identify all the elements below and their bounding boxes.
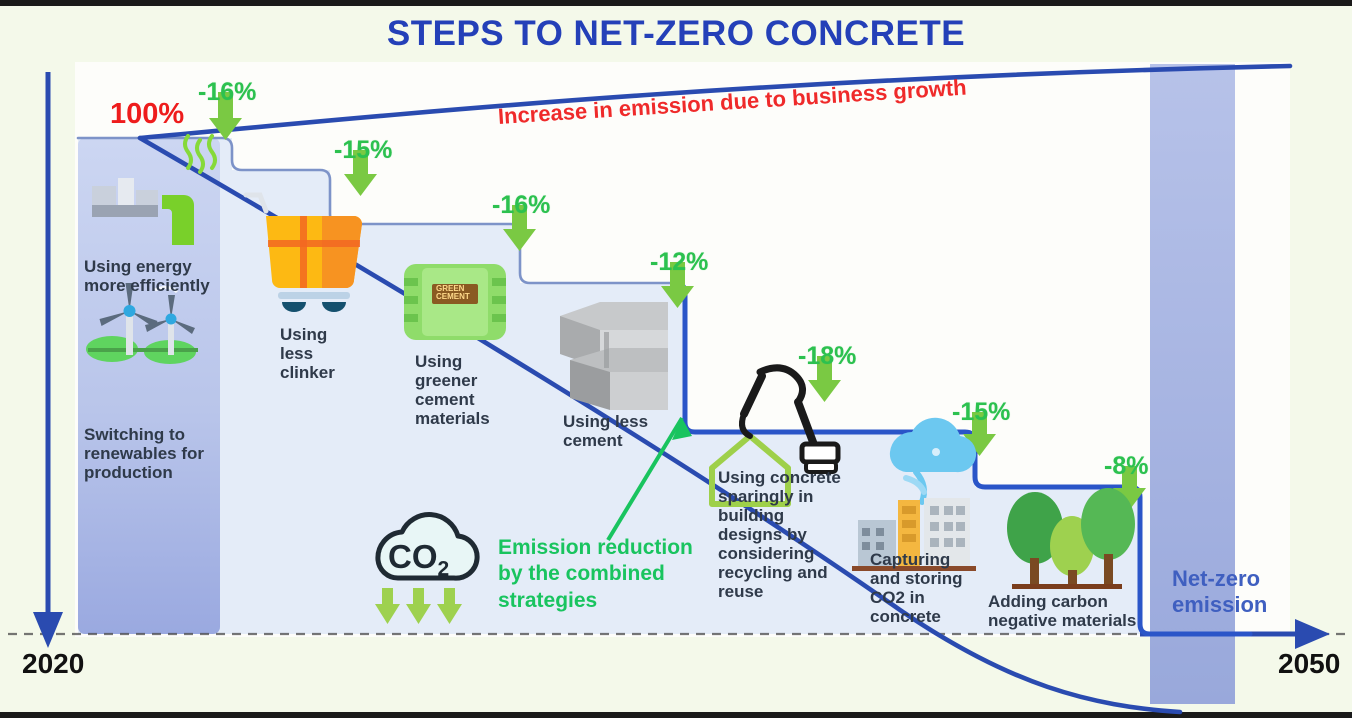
netzero-line2: emission (1172, 592, 1282, 618)
step-label-capture-line2: and storing (870, 569, 1000, 588)
pct-label-2: -15% (334, 136, 392, 165)
step-label-greener-line2: greener (415, 371, 545, 390)
step-label-clinker-line1: Using (280, 325, 390, 344)
y-axis-arrowhead (33, 612, 63, 648)
cement-bag-icon (404, 264, 506, 340)
infographic-canvas: STEPS TO NET-ZERO CONCRETE (0, 0, 1352, 718)
step-label-clinker: Using less clinker (280, 325, 390, 382)
step-label-greener-cement: Using greener cement materials (415, 352, 545, 428)
step-label-sparing-line3: building (718, 506, 868, 525)
step-label-carbon-negative: Adding carbon negative materials (988, 592, 1178, 630)
pct-label-5: -18% (798, 342, 856, 371)
baseline-100-percent: 100% (110, 98, 184, 131)
year-start-label: 2020 (22, 648, 84, 680)
year-end-label: 2050 (1278, 648, 1340, 680)
step-label-capture-line1: Capturing (870, 550, 1000, 569)
emission-reduction-line2: by the combined (498, 561, 713, 587)
step-label-clinker-line3: clinker (280, 363, 390, 382)
step-label-sparing-line2: sparingly in (718, 487, 868, 506)
step-label-sparing-line7: reuse (718, 582, 868, 601)
pct-label-6: -15% (952, 398, 1010, 427)
emission-reduction-label: Emission reduction by the combined strat… (498, 535, 713, 614)
x-axis-arrowhead (1295, 619, 1330, 649)
pct-label-1: -16% (198, 78, 256, 107)
step-label-greener-line4: materials (415, 409, 545, 428)
step-label-trees-line1: Adding carbon (988, 592, 1178, 611)
step-label-less-cement-line1: Using less (563, 412, 693, 431)
cement-bag-tag-line2: CEMENT (436, 293, 470, 301)
co2-label-sub: 2 (438, 558, 450, 581)
co2-label-main: CO (388, 538, 438, 575)
netzero-line1: Net-zero (1172, 566, 1282, 592)
step-label-less-cement: Using less cement (563, 412, 693, 450)
step-label-capture-line4: concrete (870, 607, 1000, 626)
step-label-sparing-line4: designs by (718, 525, 868, 544)
step-label-sparing-use: Using concrete sparingly in building des… (718, 468, 868, 601)
step-label-energy-line2: more efficiently (84, 276, 236, 295)
step-label-carbon-capture: Capturing and storing CO2 in concrete (870, 550, 1000, 626)
step-label-energy: Using energy more efficiently (84, 257, 236, 295)
step-label-sparing-line6: recycling and (718, 563, 868, 582)
cement-bag-tag: GREEN CEMENT (436, 285, 470, 302)
pct-label-7: -8% (1104, 452, 1148, 481)
step-label-greener-line3: cement (415, 390, 545, 409)
step-label-capture-line3: CO2 in (870, 588, 1000, 607)
step-label-renewables-line3: production (84, 463, 236, 482)
netzero-emission-label: Net-zero emission (1172, 566, 1282, 619)
step-label-sparing-line1: Using concrete (718, 468, 868, 487)
co2-cloud-text: CO2 (388, 538, 449, 582)
step-label-renewables-line1: Switching to (84, 425, 236, 444)
step-label-greener-line1: Using (415, 352, 545, 371)
step-label-renewables-line2: renewables for (84, 444, 236, 463)
step-label-renewables: Switching to renewables for production (84, 425, 236, 482)
pct-label-3: -16% (492, 191, 550, 220)
emission-reduction-line1: Emission reduction (498, 535, 713, 561)
pct-label-4: -12% (650, 248, 708, 277)
concrete-blocks-icon (560, 302, 668, 410)
step-label-clinker-line2: less (280, 344, 390, 363)
step-label-trees-line2: negative materials (988, 611, 1178, 630)
emission-reduction-line3: strategies (498, 588, 713, 614)
step-label-energy-line1: Using energy (84, 257, 236, 276)
step-label-less-cement-line2: cement (563, 431, 693, 450)
step-label-sparing-line5: considering (718, 544, 868, 563)
